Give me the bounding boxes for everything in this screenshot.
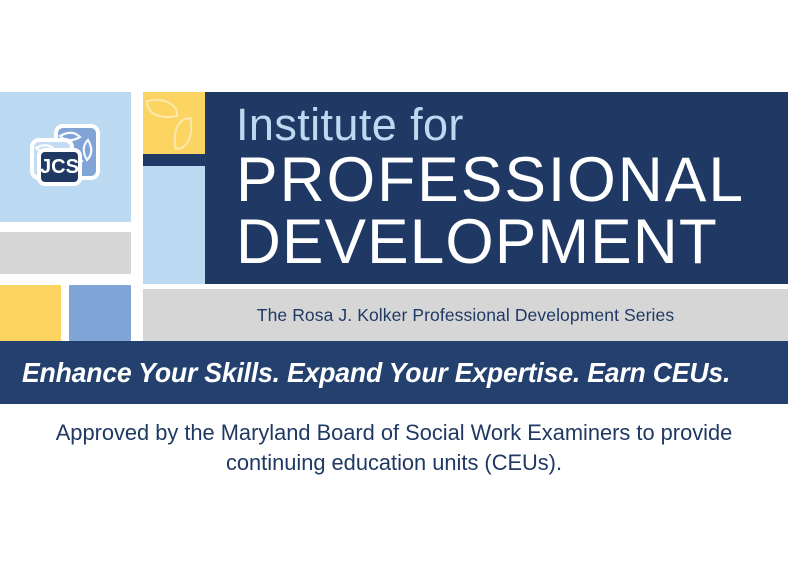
approval-line-1: Approved by the Maryland Board of Social… bbox=[29, 418, 758, 448]
title-line-institute-for: Institute for bbox=[236, 102, 464, 147]
decorative-block-yellow-left bbox=[0, 285, 61, 341]
decorative-strip-navy bbox=[143, 154, 205, 166]
ipd-promo-banner: JCS Institute for PROFESSIONAL DEVELOPME… bbox=[0, 0, 788, 563]
tagline-bar: Enhance Your Skills. Expand Your Experti… bbox=[0, 341, 788, 404]
series-band: The Rosa J. Kolker Professional Developm… bbox=[143, 289, 788, 341]
decorative-block-light-blue-column bbox=[143, 166, 205, 284]
decorative-block-blue-mid bbox=[69, 285, 131, 341]
approval-line-2: continuing education units (CEUs). bbox=[29, 448, 758, 478]
title-line-development: DEVELOPMENT bbox=[236, 211, 718, 274]
leaf-icon bbox=[146, 96, 179, 121]
headline-panel: Institute for PROFESSIONAL DEVELOPMENT bbox=[205, 92, 788, 284]
series-label: The Rosa J. Kolker Professional Developm… bbox=[257, 305, 674, 326]
title-line-professional: PROFESSIONAL bbox=[236, 149, 745, 212]
tagline-text: Enhance Your Skills. Expand Your Experti… bbox=[22, 357, 730, 389]
leaf-icon bbox=[171, 117, 194, 150]
approval-statement: Approved by the Maryland Board of Social… bbox=[12, 418, 776, 479]
jcs-monogram: JCS bbox=[40, 156, 79, 178]
decorative-block-yellow-top bbox=[143, 92, 205, 154]
decorative-block-gray-left bbox=[0, 232, 131, 274]
jcs-logo: JCS bbox=[18, 110, 106, 198]
